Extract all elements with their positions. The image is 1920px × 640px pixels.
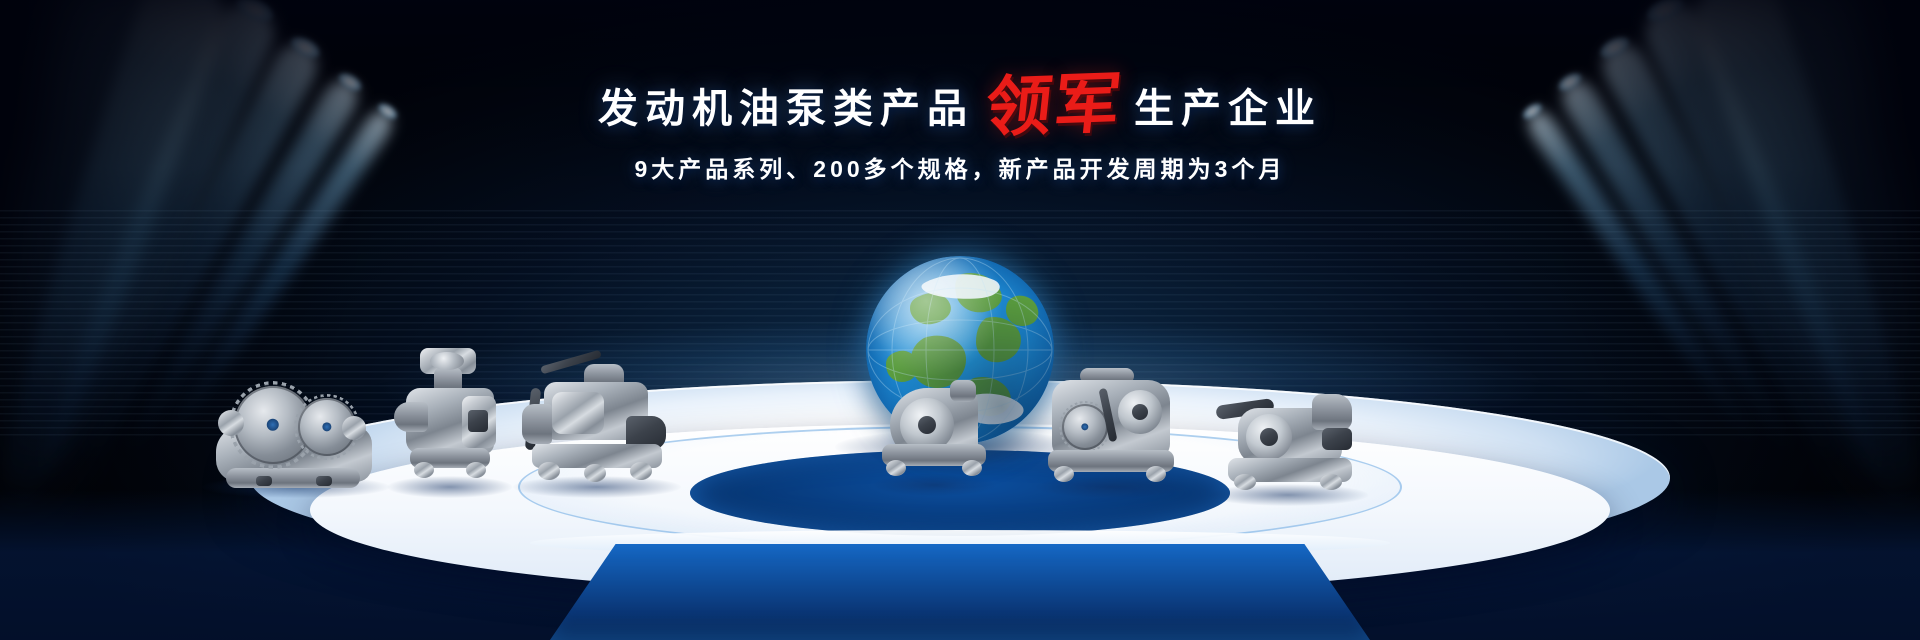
stage (0, 310, 1920, 640)
product-oil-pump-chain-drive (1044, 368, 1180, 490)
headline-lead-text: 发动机油泵类产品 (598, 89, 974, 129)
headline-trail-text: 生产企业 (1134, 89, 1322, 129)
spotlight-beam-right-5 (1504, 92, 1786, 463)
background-horizon-glow (210, 300, 1710, 470)
product-water-pump-assembly (394, 348, 506, 490)
globe (866, 256, 1054, 444)
headline: 发动机油泵类产品领军生产企业 (0, 76, 1920, 142)
product-oil-pump-vane-type (1216, 384, 1360, 498)
globe-highlight (866, 256, 1054, 444)
stage-disc-inner (310, 424, 1610, 596)
product-oil-pump-gear-rotor (212, 380, 380, 490)
subheadline: 9大产品系列、200多个规格，新产品开发周期为3个月 (0, 150, 1920, 184)
stage-front-panel (550, 544, 1370, 640)
stage-center-pool (690, 450, 1230, 536)
background-haze-lines (0, 210, 1920, 440)
stage-floor (0, 490, 1920, 640)
product-oil-pump-module-large (522, 358, 672, 490)
stage-front-lip (530, 530, 1390, 556)
stage-ring (518, 426, 1402, 548)
spotlight-beam-left-5 (134, 92, 416, 463)
promo-banner: 发动机油泵类产品领军生产企业 9大产品系列、200多个规格，新产品开发周期为3个… (0, 0, 1920, 640)
product-oil-pump-housing (880, 380, 990, 488)
headline-highlight-text: 领军 (982, 70, 1126, 141)
stage-disc-outer (250, 380, 1670, 576)
globe-shadow (835, 430, 1085, 464)
